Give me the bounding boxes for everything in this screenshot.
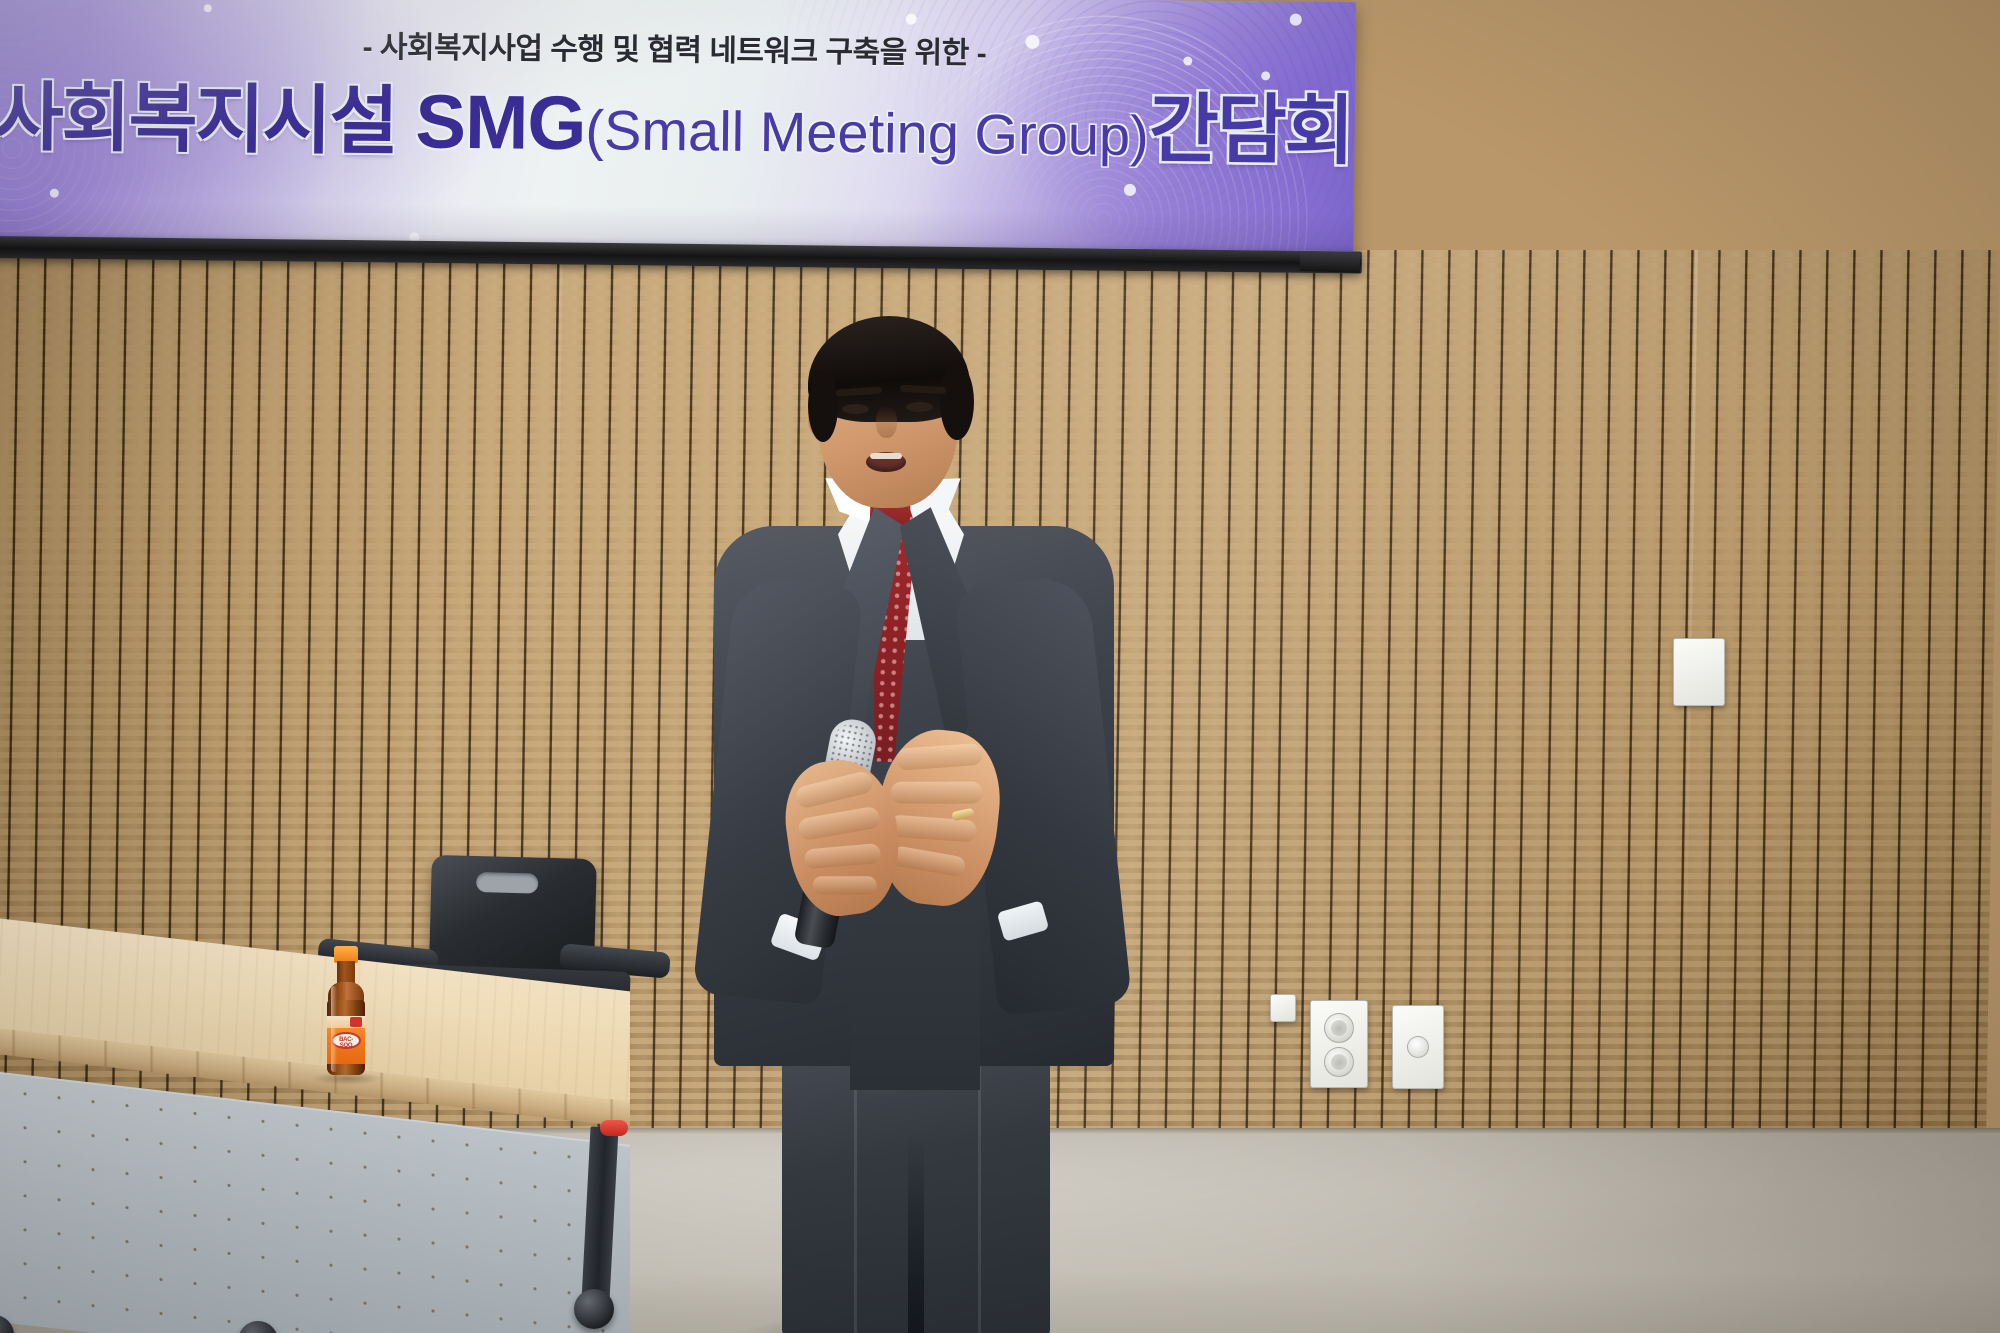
single-jack-plate[interactable]: [1392, 1005, 1444, 1089]
finger-index: [794, 770, 875, 810]
nose: [876, 406, 897, 438]
finger-index: [896, 743, 983, 771]
blank-wall-plate: [1673, 638, 1725, 706]
finger-pinky: [890, 845, 966, 878]
jack-port[interactable]: [1407, 1036, 1429, 1058]
finger-pinky: [813, 876, 877, 894]
banner-mounting-rail-right: [1300, 251, 1361, 273]
double-power-outlet-plate[interactable]: [1310, 1000, 1368, 1088]
hair-sideburn-left: [808, 370, 838, 442]
power-socket-lower[interactable]: [1324, 1047, 1354, 1077]
finger-middle: [891, 782, 983, 804]
table-release-knob[interactable]: [600, 1120, 628, 1136]
table-caster-right: [574, 1289, 614, 1329]
small-switch-plate[interactable]: [1270, 994, 1296, 1022]
mouth: [866, 452, 906, 472]
teeth: [870, 453, 902, 459]
finger-middle: [797, 805, 882, 841]
event-banner: - 사회복지사업 수행 및 협력 네트워크 구축을 위한 - 사회복지시설 SM…: [0, 0, 1356, 260]
trouser-inseam: [908, 1136, 924, 1333]
drink-bottle[interactable]: BAC-SOO: [323, 946, 369, 1078]
hair-sideburn-right: [940, 364, 974, 440]
power-socket-upper[interactable]: [1324, 1013, 1354, 1043]
bottle-highlight: [331, 986, 337, 1072]
chair-handle-cutout: [476, 872, 539, 894]
finger-ring: [804, 843, 881, 870]
photo-scene: - 사회복지사업 수행 및 협력 네트워크 구축을 위한 - 사회복지시설 SM…: [0, 0, 2000, 1333]
banner-sheen: [0, 0, 1356, 260]
bottle-label-red-tag: [350, 1017, 362, 1027]
speaker-person: [700, 330, 1120, 1333]
eye-right: [906, 402, 933, 412]
eye-left: [842, 404, 869, 414]
